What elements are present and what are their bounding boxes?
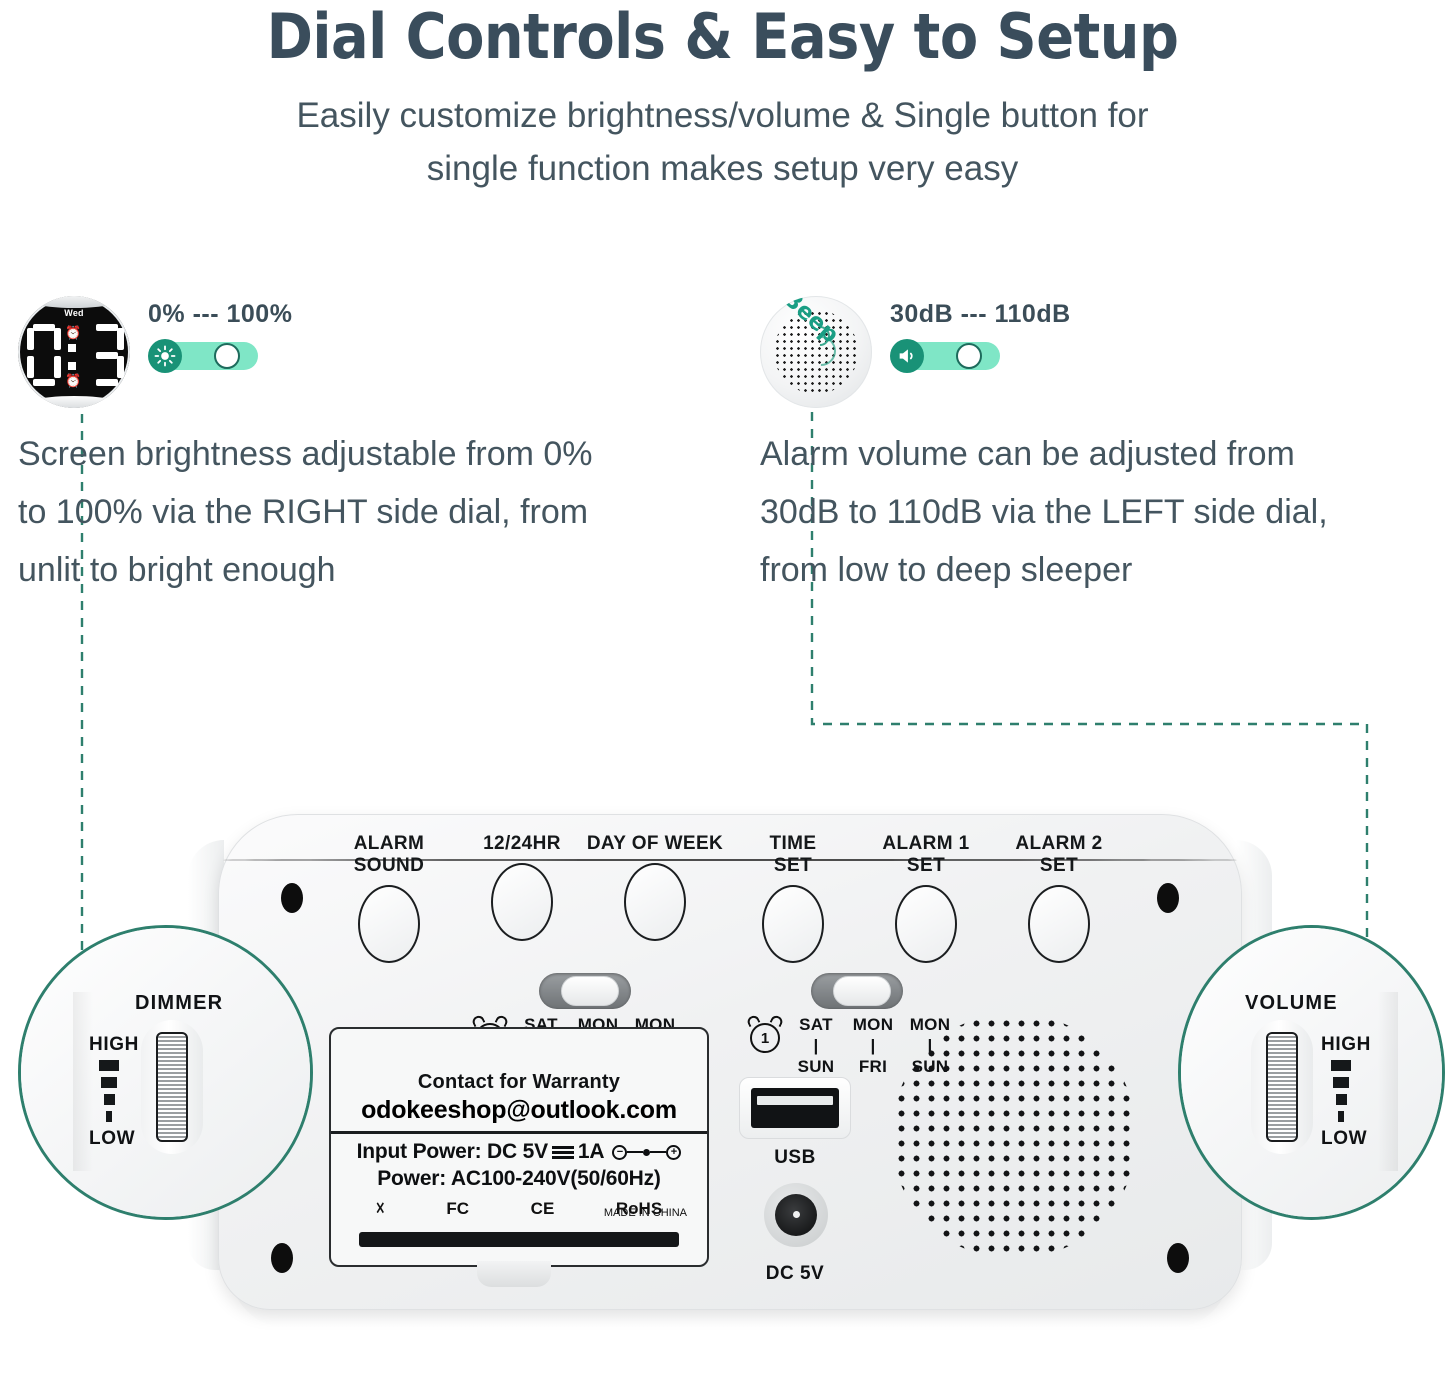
page-title: Dial Controls & Easy to Setup (0, 6, 1445, 68)
clock-bezel-top (18, 296, 130, 308)
button-alarm2-set-knob[interactable] (1028, 885, 1090, 963)
button-alarm-sound-knob[interactable] (358, 885, 420, 963)
product-body: ALARM SOUND 12/24HR DAY OF WEEK TIME SET… (218, 814, 1242, 1310)
dc-port-label: DC 5V (739, 1263, 851, 1285)
usb-port[interactable] (739, 1077, 851, 1139)
speaker-grille-icon: Beep (760, 296, 872, 408)
volume-dial[interactable] (1251, 1020, 1313, 1154)
volume-scale: HIGH LOW (1321, 1034, 1361, 1150)
spec-label-panel: Contact for Warranty odokeeshop@outlook.… (329, 1027, 709, 1267)
speaker-grille (891, 1013, 1137, 1259)
panel-divider (331, 1131, 707, 1134)
input-power-suffix: 1A (578, 1140, 604, 1163)
dc-jack-pin (793, 1211, 800, 1218)
clock-alarm1-indicator: ⏰ (65, 326, 81, 339)
header: Dial Controls & Easy to Setup Easily cus… (0, 0, 1445, 195)
alarm1-bottom-day-1: SUN (794, 1057, 838, 1077)
volume-toggle-knob[interactable] (956, 343, 982, 369)
dimmer-scale-bars (98, 1060, 120, 1122)
polarity-diagram-icon: −+ (612, 1145, 681, 1160)
clock-bezel-bottom (18, 396, 130, 408)
clock-digit-left (27, 324, 61, 386)
clock-colon-top (68, 344, 76, 352)
fcc-icon: FC (446, 1199, 469, 1219)
alarm1-top-day-3: MON (908, 1015, 952, 1035)
brightness-toggle-knob[interactable] (214, 343, 240, 369)
clock-alarm2-indicator: ⏰ (65, 374, 81, 387)
battery-door-tab[interactable] (477, 1261, 551, 1287)
dc-power-jack[interactable] (764, 1183, 828, 1247)
button-time-set[interactable]: TIME SET (723, 833, 863, 963)
volume-toggle[interactable] (890, 339, 1000, 373)
button-alarm2-set[interactable]: ALARM 2 SET (989, 833, 1129, 963)
made-in-label: MADE IN CHINA (604, 1207, 687, 1219)
volume-dial-wheel[interactable] (1266, 1032, 1298, 1142)
brightness-range-group: 0% --- 100% (148, 296, 292, 373)
brightness-sun-icon (148, 339, 182, 373)
callout-volume: VOLUME HIGH LOW (1178, 925, 1445, 1220)
alarm1-switch-pill[interactable] (833, 976, 891, 1006)
alarm1-top-day-2: MON (851, 1015, 895, 1035)
dimmer-dial[interactable] (141, 1020, 203, 1154)
feature-volume-header: Beep 30dB --- 110dB (760, 296, 1340, 408)
callout-volume-edge (1378, 992, 1398, 1171)
usb-port-label: USB (739, 1147, 851, 1169)
speaker-volume-icon (890, 339, 924, 373)
usb-port-slot (751, 1088, 839, 1128)
subtitle-line-2: single function makes setup very easy (0, 143, 1445, 196)
warranty-title: Contact for Warranty (331, 1071, 707, 1094)
weee-icon: ☓ (376, 1199, 385, 1219)
button-row: ALARM SOUND 12/24HR DAY OF WEEK TIME SET… (319, 833, 1149, 963)
alarm2-switch-pill[interactable] (561, 976, 619, 1006)
brightness-range-label: 0% --- 100% (148, 300, 292, 329)
dimmer-scale: HIGH LOW (89, 1034, 129, 1150)
brightness-toggle[interactable] (148, 339, 258, 373)
subtitle-line-1: Easily customize brightness/volume & Sin… (0, 90, 1445, 143)
clock-colon-bottom (68, 362, 76, 370)
alarm1-number: 1 (750, 1023, 780, 1053)
button-alarm1-set[interactable]: ALARM 1 SET (856, 833, 996, 963)
button-day-of-week-knob[interactable] (624, 863, 686, 941)
warranty-email: odokeeshop@outlook.com (331, 1096, 707, 1125)
screw-top-left (281, 883, 303, 913)
button-day-of-week-label: DAY OF WEEK (585, 833, 725, 855)
button-12-24hr[interactable]: 12/24HR (452, 833, 592, 941)
clock-display-icon: Wed ⏰ ⏰ (18, 296, 130, 408)
feature-volume-description: Alarm volume can be adjusted from 30dB t… (760, 426, 1340, 599)
button-time-set-label: TIME SET (723, 833, 863, 877)
feature-brightness-header: Wed ⏰ ⏰ 0% --- 100% (18, 296, 618, 408)
volume-range-label: 30dB --- 110dB (890, 300, 1071, 329)
dc-symbol-icon (552, 1146, 574, 1159)
feature-volume: Beep 30dB --- 110dB Alarm volume can be … (760, 296, 1340, 599)
clock-day-of-week: Wed (18, 308, 130, 318)
volume-dial-label: VOLUME (1245, 992, 1338, 1015)
dimmer-scale-high: HIGH (89, 1034, 129, 1056)
screw-top-right (1157, 883, 1179, 913)
button-12-24hr-label: 12/24HR (452, 833, 592, 855)
button-alarm2-set-label: ALARM 2 SET (989, 833, 1129, 877)
volume-scale-bars (1330, 1060, 1352, 1122)
alarm1-day-switch[interactable] (811, 973, 903, 1009)
alarm-clock-1-icon: 1 (746, 1015, 784, 1055)
volume-scale-low: LOW (1321, 1128, 1361, 1150)
product-rear-panel: ALARM SOUND 12/24HR DAY OF WEEK TIME SET… (200, 800, 1260, 1330)
battery-door-slot (359, 1232, 679, 1247)
feature-brightness-description: Screen brightness adjustable from 0% to … (18, 426, 618, 599)
volume-scale-high: HIGH (1321, 1034, 1361, 1056)
ac-power-line: Power: AC100-240V(50/60Hz) (331, 1167, 707, 1191)
button-alarm-sound[interactable]: ALARM SOUND (319, 833, 459, 963)
dimmer-scale-low: LOW (89, 1128, 129, 1150)
alarm1-top-day-1: SAT (794, 1015, 838, 1035)
dimmer-dial-wheel[interactable] (156, 1032, 188, 1142)
screw-bottom-right (1167, 1243, 1189, 1273)
page-subtitle: Easily customize brightness/volume & Sin… (0, 90, 1445, 195)
button-alarm1-set-label: ALARM 1 SET (856, 833, 996, 877)
callout-dimmer: DIMMER HIGH LOW (18, 925, 313, 1220)
input-power-line: Input Power: DC 5V1A−+ (331, 1140, 707, 1164)
ce-icon: CE (531, 1199, 555, 1219)
dimmer-label: DIMMER (135, 992, 223, 1015)
clock-digit-right (90, 324, 124, 386)
button-alarm-sound-label: ALARM SOUND (319, 833, 459, 877)
alarm1-bottom-day-2: FRI (851, 1057, 895, 1077)
button-day-of-week[interactable]: DAY OF WEEK (585, 833, 725, 941)
feature-brightness: Wed ⏰ ⏰ 0% --- 100% (18, 296, 618, 599)
button-12-24hr-knob[interactable] (491, 863, 553, 941)
button-time-set-knob[interactable] (762, 885, 824, 963)
volume-range-group: 30dB --- 110dB (890, 296, 1071, 373)
screw-bottom-left (271, 1243, 293, 1273)
button-alarm1-set-knob[interactable] (895, 885, 957, 963)
input-power-prefix: Input Power: DC 5V (357, 1140, 548, 1163)
alarm2-day-switch[interactable] (539, 973, 631, 1009)
